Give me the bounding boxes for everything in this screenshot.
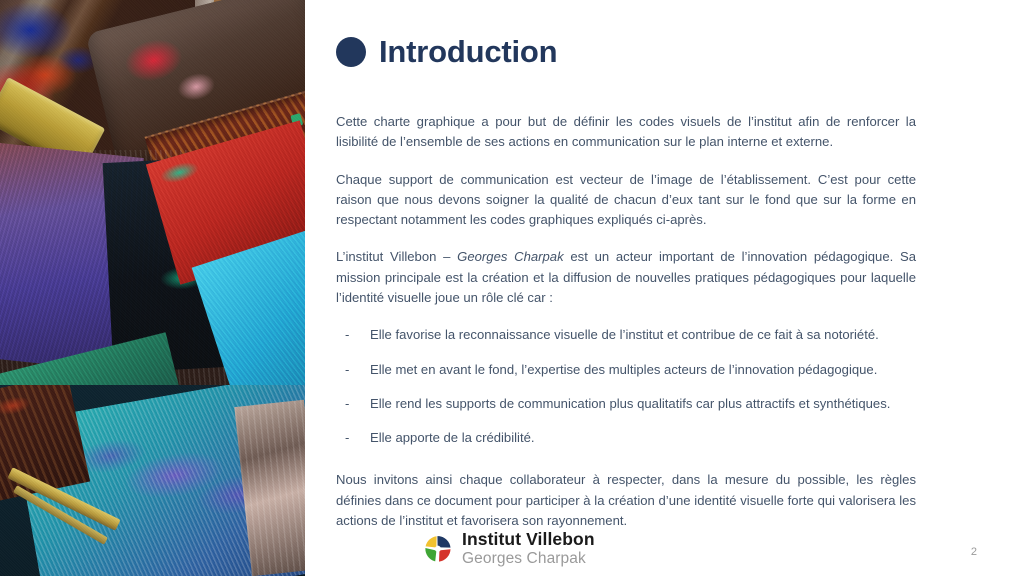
logo-line-institut-villebon: Institut Villebon	[462, 531, 595, 549]
photo-layer-bottom	[0, 385, 305, 576]
page-title: Introduction	[336, 36, 557, 67]
bullet-marker: -	[345, 394, 349, 414]
bullet-marker: -	[345, 428, 349, 448]
list-item: -Elle favorise la reconnaissance visuell…	[336, 325, 916, 345]
bullet-list: -Elle favorise la reconnaissance visuell…	[336, 325, 916, 448]
page-number: 2	[971, 546, 977, 558]
paragraph-1: Cette charte graphique a pour but de déf…	[336, 112, 916, 153]
logo-line-georges-charpak: Georges Charpak	[462, 551, 595, 567]
paragraph-3-italic-name: Georges Charpak	[457, 249, 563, 264]
bullet-marker: -	[345, 325, 349, 345]
list-item-text: Elle met en avant le fond, l’expertise d…	[370, 362, 877, 377]
body-content: Cette charte graphique a pour but de déf…	[336, 112, 916, 531]
page-title-text: Introduction	[379, 36, 557, 67]
content-area: Introduction Cette charte graphique a po…	[305, 0, 1024, 576]
logo-wordmark: Institut Villebon Georges Charpak	[462, 531, 595, 566]
paragraph-3-before-italic: L’institut Villebon –	[336, 249, 457, 264]
institut-villebon-logo: Institut Villebon Georges Charpak	[423, 531, 595, 566]
list-item: -Elle met en avant le fond, l’expertise …	[336, 360, 916, 380]
paintbrush-photo	[0, 0, 305, 576]
list-item-text: Elle favorise la reconnaissance visuelle…	[370, 327, 879, 342]
list-item-text: Elle apporte de la crédibilité.	[370, 430, 535, 445]
list-item: -Elle apporte de la crédibilité.	[336, 428, 916, 448]
paragraph-3: L’institut Villebon – Georges Charpak es…	[336, 247, 916, 308]
paragraph-closing: Nous invitons ainsi chaque collaborateur…	[336, 470, 916, 531]
filled-circle-icon	[336, 37, 366, 67]
slide-root: Introduction Cette charte graphique a po…	[0, 0, 1024, 576]
bullet-marker: -	[345, 360, 349, 380]
list-item: -Elle rend les supports de communication…	[336, 394, 916, 414]
paragraph-2: Chaque support de communication est vect…	[336, 170, 916, 231]
list-item-text: Elle rend les supports de communication …	[370, 396, 890, 411]
institut-villebon-flower-logo-icon	[423, 534, 453, 564]
